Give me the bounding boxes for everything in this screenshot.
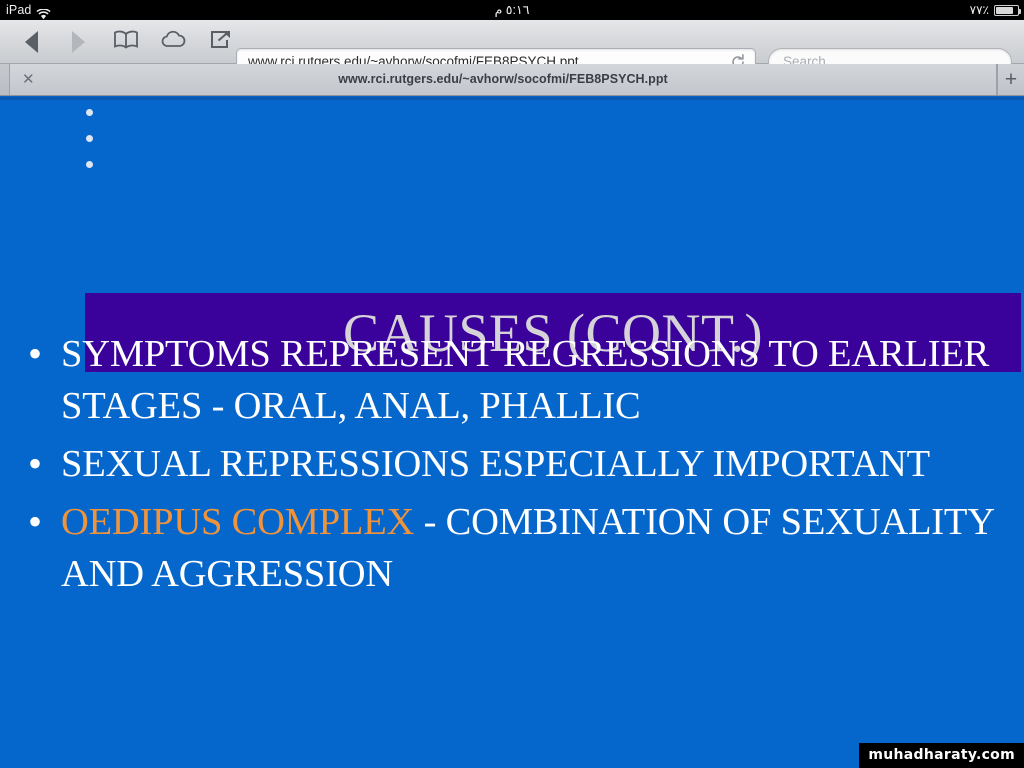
bullet-body: SYMPTOMS REPRESENT REGRESSIONS TO EARLIE… <box>61 333 989 427</box>
new-tab-button[interactable]: + <box>997 64 1024 95</box>
empty-bullet-marker <box>86 135 93 142</box>
tab-title-label: www.rci.rutgers.edu/~avhorw/socofmi/FEB8… <box>10 64 996 95</box>
back-button[interactable] <box>8 20 55 63</box>
browser-toolbar: www.rci.rutgers.edu/~avhorw/socofmi/FEB8… <box>0 20 1024 64</box>
list-item: • SEXUAL REPRESSIONS ESPECIALLY IMPORTAN… <box>28 438 1003 490</box>
browser-tab[interactable]: ✕ www.rci.rutgers.edu/~avhorw/socofmi/FE… <box>9 64 997 95</box>
status-bar-clock: ٥:١٦ م <box>0 0 1024 20</box>
toolbar-button-group <box>8 20 243 63</box>
list-item: • SYMPTOMS REPRESENT REGRESSIONS TO EARL… <box>28 328 1003 432</box>
bullet-marker: • <box>28 438 61 490</box>
bullet-marker: • <box>28 496 61 548</box>
ipad-safari-screen: iPad ٥:١٦ م ٧٧٪ <box>0 0 1024 768</box>
bullet-text: SEXUAL REPRESSIONS ESPECIALLY IMPORTANT <box>61 438 930 490</box>
tab-bar: ✕ www.rci.rutgers.edu/~avhorw/socofmi/FE… <box>0 64 1024 96</box>
bullet-marker: • <box>28 328 61 380</box>
bullet-highlight: OEDIPUS COMPLEX <box>61 501 414 543</box>
battery-icon <box>994 5 1019 16</box>
watermark-label: muhadharaty.com <box>868 747 1015 763</box>
bullet-text: OEDIPUS COMPLEX - COMBINATION OF SEXUALI… <box>61 496 1003 600</box>
empty-bullet-marker <box>86 161 93 168</box>
back-arrow-icon <box>25 31 38 53</box>
share-icon <box>208 29 232 55</box>
bookmarks-button[interactable] <box>102 20 149 63</box>
bullet-body: SEXUAL REPRESSIONS ESPECIALLY IMPORTANT <box>61 443 930 485</box>
status-bar: iPad ٥:١٦ م ٧٧٪ <box>0 0 1024 20</box>
watermark: muhadharaty.com <box>859 743 1024 768</box>
presentation-slide: CAUSES (CONT.) • SYMPTOMS REPRESENT REGR… <box>0 97 1024 768</box>
bullet-text: SYMPTOMS REPRESENT REGRESSIONS TO EARLIE… <box>61 328 1003 432</box>
forward-button[interactable] <box>55 20 102 63</box>
cloud-icon <box>160 30 186 53</box>
icloud-tabs-button[interactable] <box>149 20 196 63</box>
slide-bullet-list: • SYMPTOMS REPRESENT REGRESSIONS TO EARL… <box>28 328 1003 606</box>
list-item: • OEDIPUS COMPLEX - COMBINATION OF SEXUA… <box>28 496 1003 600</box>
empty-bullet-marker <box>86 109 93 116</box>
forward-arrow-icon <box>72 31 85 53</box>
book-icon <box>113 30 139 54</box>
status-bar-right: ٧٧٪ <box>970 0 1019 20</box>
slide-top-strip <box>0 97 1024 100</box>
battery-percent-label: ٧٧٪ <box>970 0 989 20</box>
empty-bullet-list <box>86 109 93 187</box>
